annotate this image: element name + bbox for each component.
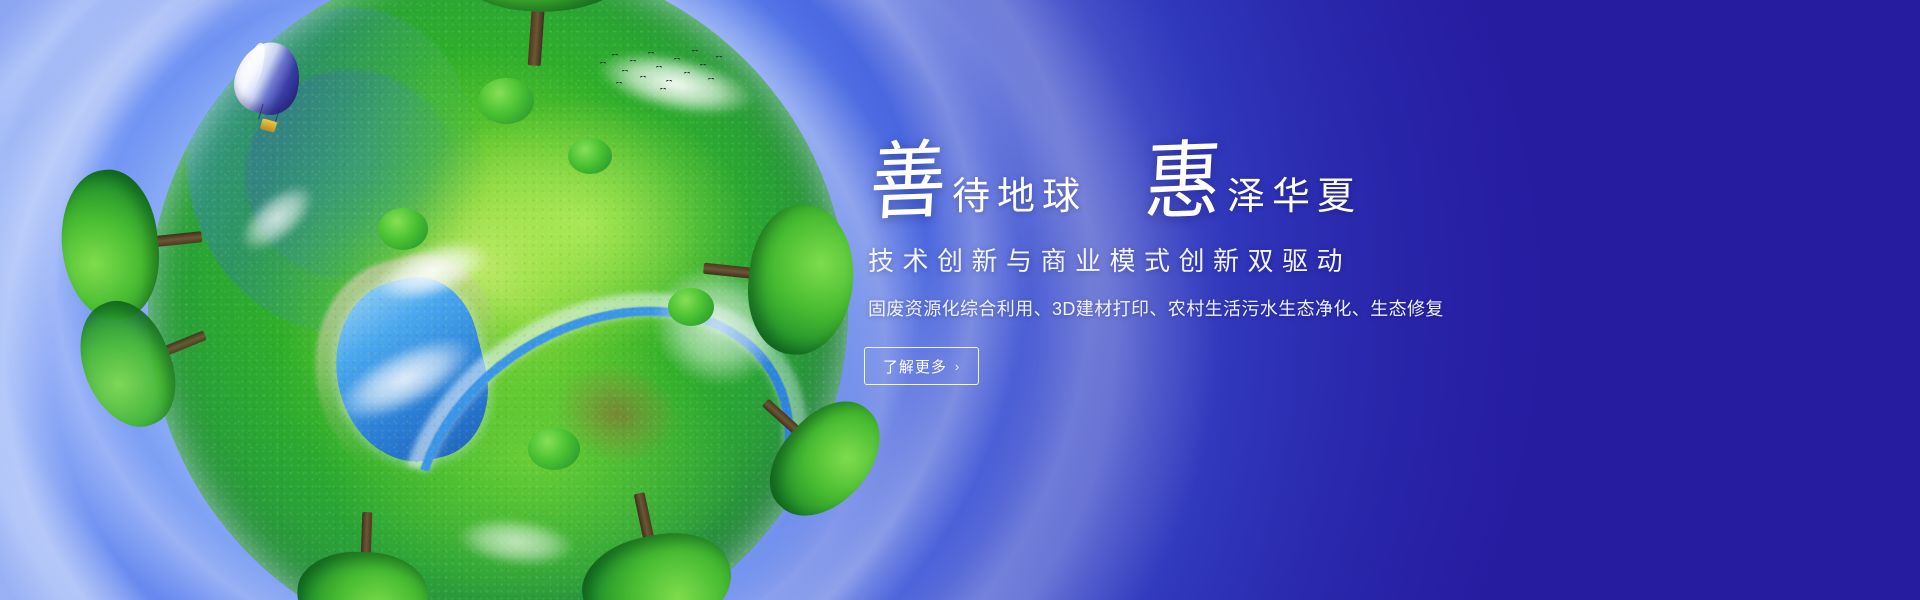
bird-icon — [640, 76, 645, 79]
banner-subtitle: 技术创新与商业模式创新双驱动 — [868, 248, 1682, 274]
bird-icon — [656, 66, 661, 69]
tree-crown — [296, 550, 429, 600]
tree-crown — [573, 521, 740, 600]
tree-crown — [446, 0, 643, 19]
bird-flock-icon — [596, 48, 726, 100]
headline-phrase-right: 惠 泽华夏 — [1143, 152, 1362, 222]
bird-icon — [660, 88, 665, 91]
bird-icon — [716, 56, 721, 59]
bird-icon — [692, 50, 697, 53]
bird-icon — [622, 70, 627, 73]
bird-icon — [616, 82, 621, 85]
bird-icon — [612, 54, 617, 57]
tree-icon — [296, 516, 430, 600]
bird-icon — [674, 58, 679, 61]
bird-icon — [600, 62, 605, 65]
chevron-right-icon: › — [955, 359, 960, 374]
bird-icon — [666, 80, 671, 83]
banner-description: 固废资源化综合利用、3D建材打印、农村生活污水生态净化、生态修复 — [868, 298, 1682, 321]
learn-more-label: 了解更多 — [883, 356, 947, 377]
bird-icon — [684, 72, 689, 75]
headline-right-accent-character: 惠 — [1143, 141, 1229, 222]
bird-icon — [648, 52, 653, 55]
bird-icon — [708, 78, 713, 81]
headline: 善 待地球 惠 泽华夏 — [868, 126, 1682, 222]
learn-more-button[interactable]: 了解更多 › — [864, 347, 979, 385]
bird-icon — [630, 60, 635, 63]
bird-icon — [700, 64, 705, 67]
hot-air-balloon-icon — [236, 42, 300, 136]
banner-content: 善 待地球 惠 泽华夏 技术创新与商业模式创新双驱动 固废资源化综合利用、3D建… — [862, 126, 1682, 385]
tree-crown — [741, 200, 860, 360]
headline-left-text: 待地球 — [952, 177, 1087, 222]
headline-right-text: 泽华夏 — [1227, 177, 1362, 222]
headline-left-accent-character: 善 — [868, 141, 954, 222]
tree-icon — [706, 196, 861, 360]
headline-phrase-left: 善 待地球 — [868, 152, 1087, 222]
hero-banner: 善 待地球 惠 泽华夏 技术创新与商业模式创新双驱动 固废资源化综合利用、3D建… — [0, 0, 1920, 600]
